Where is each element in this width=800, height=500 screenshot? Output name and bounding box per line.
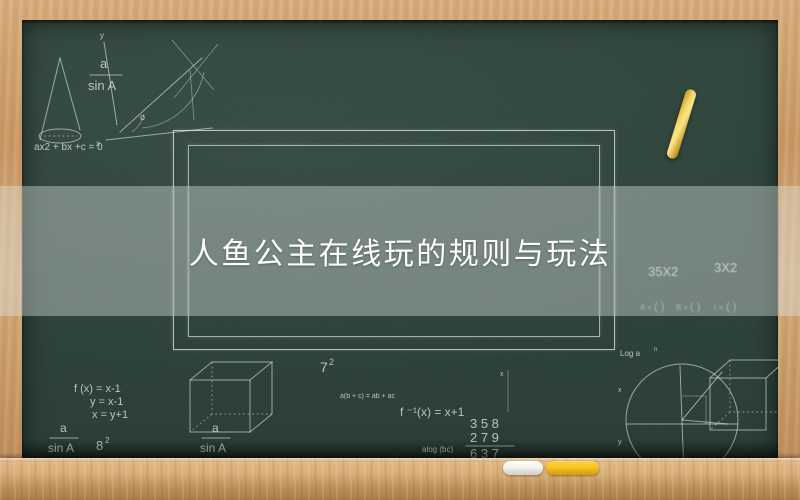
svg-text:y = x-1: y = x-1 <box>90 396 123 408</box>
svg-text:o: o <box>140 112 145 122</box>
cone-drawing <box>39 58 81 143</box>
svg-text:a: a <box>60 421 67 435</box>
inverse-function: f ⁻¹(x) = x+1 <box>400 405 465 419</box>
cube-drawing-center <box>190 362 272 432</box>
white-chalk-icon <box>503 461 543 475</box>
log-a-n: Log a n <box>620 347 657 358</box>
svg-text:7: 7 <box>320 359 328 375</box>
quadratic-equation: ax2 + bx +c = 0 <box>34 142 103 153</box>
cube-drawing-right <box>710 360 778 430</box>
svg-text:x: x <box>618 387 622 394</box>
chalkboard-banner: a sin A y x o <box>0 0 800 500</box>
chalk-ledge <box>0 458 800 500</box>
chalk-ledge-lip <box>0 458 800 462</box>
seven-squared: 7 2 <box>320 357 334 375</box>
svg-text:n: n <box>654 347 657 353</box>
svg-text:3 5 8: 3 5 8 <box>470 416 499 431</box>
svg-text:sin A: sin A <box>88 78 117 93</box>
yellow-chalk-icon <box>546 461 599 475</box>
svg-text:x: x <box>500 371 504 378</box>
svg-text:x = y+1: x = y+1 <box>92 409 128 421</box>
svg-text:Log a: Log a <box>620 349 641 358</box>
function-notes: f (x) = x-1 y = x-1 x = y+1 <box>74 383 128 421</box>
board-bottom-shadow <box>22 440 778 458</box>
distributive-law: a(b + c) = ab + ac <box>340 393 396 400</box>
fraction-a-sina-top: a sin A <box>88 56 122 93</box>
svg-text:f (x) = x-1: f (x) = x-1 <box>74 383 121 395</box>
svg-text:a: a <box>212 421 219 435</box>
svg-text:y: y <box>100 31 104 40</box>
svg-text:2: 2 <box>329 357 334 367</box>
page-title: 人鱼公主在线玩的规则与玩法 <box>0 186 800 316</box>
